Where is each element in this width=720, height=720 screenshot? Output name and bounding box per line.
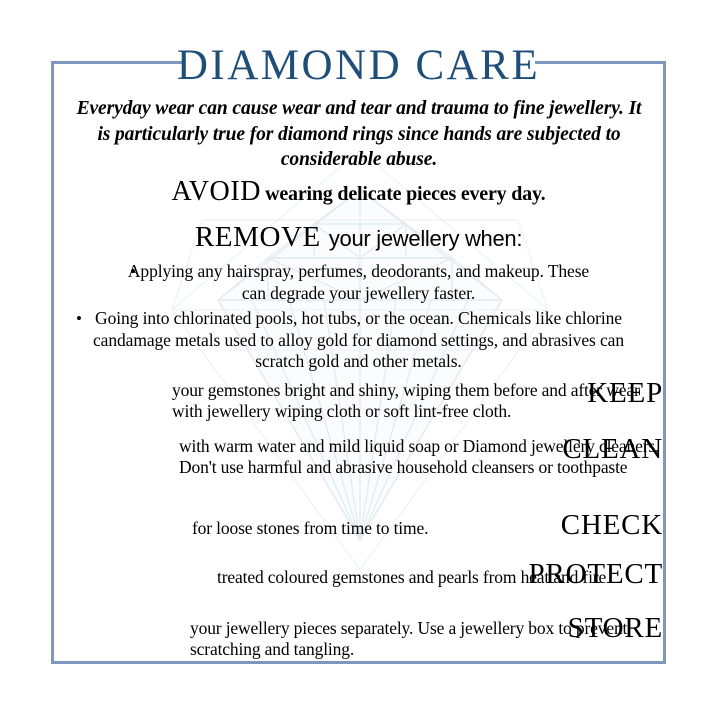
protect-text: treated coloured gemstones and pearls fr…: [217, 567, 663, 588]
bullet-glyph: •: [76, 308, 82, 330]
list-item-text: Applying any hairspray, perfumes, deodor…: [70, 261, 647, 304]
check-text: for loose stones from time to time.: [192, 518, 663, 539]
avoid-keyword: AVOID: [172, 176, 262, 207]
list-item: • Applying any hairspray, perfumes, deod…: [70, 261, 647, 304]
section-remove: REMOVE your jewellery when:: [54, 221, 663, 254]
remove-text: your jewellery when:: [329, 226, 522, 251]
list-item: • Going into chlorinated pools, hot tubs…: [70, 308, 647, 373]
bullet-glyph: •: [130, 261, 136, 283]
page-title: DIAMOND CARE: [54, 41, 663, 91]
clean-text: with warm water and mild liquid soap or …: [179, 436, 663, 478]
section-avoid: AVOID wearing delicate pieces every day.: [54, 176, 663, 208]
store-text: your jewellery pieces separately. Use a …: [190, 618, 663, 660]
remove-bullet-list: • Applying any hairspray, perfumes, deod…: [70, 261, 647, 373]
avoid-text: wearing delicate pieces every day.: [265, 183, 545, 205]
list-item-text: Going into chlorinated pools, hot tubs, …: [70, 308, 647, 373]
diamond-care-poster: DIAMOND CARE Everyday wear can cause wea…: [0, 0, 720, 720]
intro-paragraph: Everyday wear can cause wear and tear an…: [76, 96, 642, 173]
remove-keyword: REMOVE: [195, 221, 321, 253]
keep-text: your gemstones bright and shiny, wiping …: [172, 380, 663, 422]
